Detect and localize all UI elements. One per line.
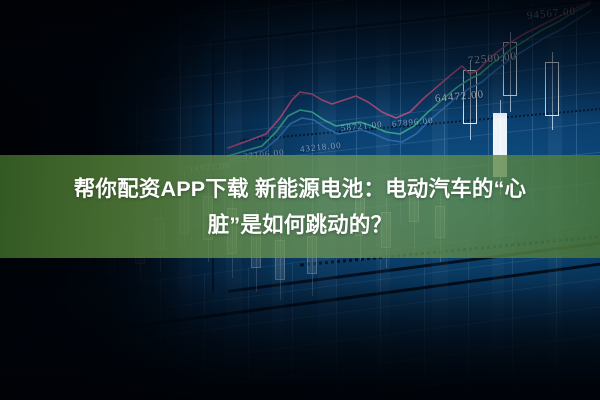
page-title: 帮你配资APP下载 新能源电池：电动汽车的“心 脏”是如何跳动的？ [10,171,590,243]
top-vignette [0,0,600,120]
title-band: 帮你配资APP下载 新能源电池：电动汽车的“心 脏”是如何跳动的？ [0,155,600,258]
page-title-line1: 帮你配资APP下载 新能源电池：电动汽车的“心 [74,177,527,201]
page-title-line2: 脏”是如何跳动的？ [208,213,393,237]
title-band-inner: 帮你配资APP下载 新能源电池：电动汽车的“心 脏”是如何跳动的？ [0,155,600,258]
bottom-fade-mask [0,280,600,400]
promo-banner: 94567.0072500.0064472.0067896.0058721.00… [0,0,600,400]
